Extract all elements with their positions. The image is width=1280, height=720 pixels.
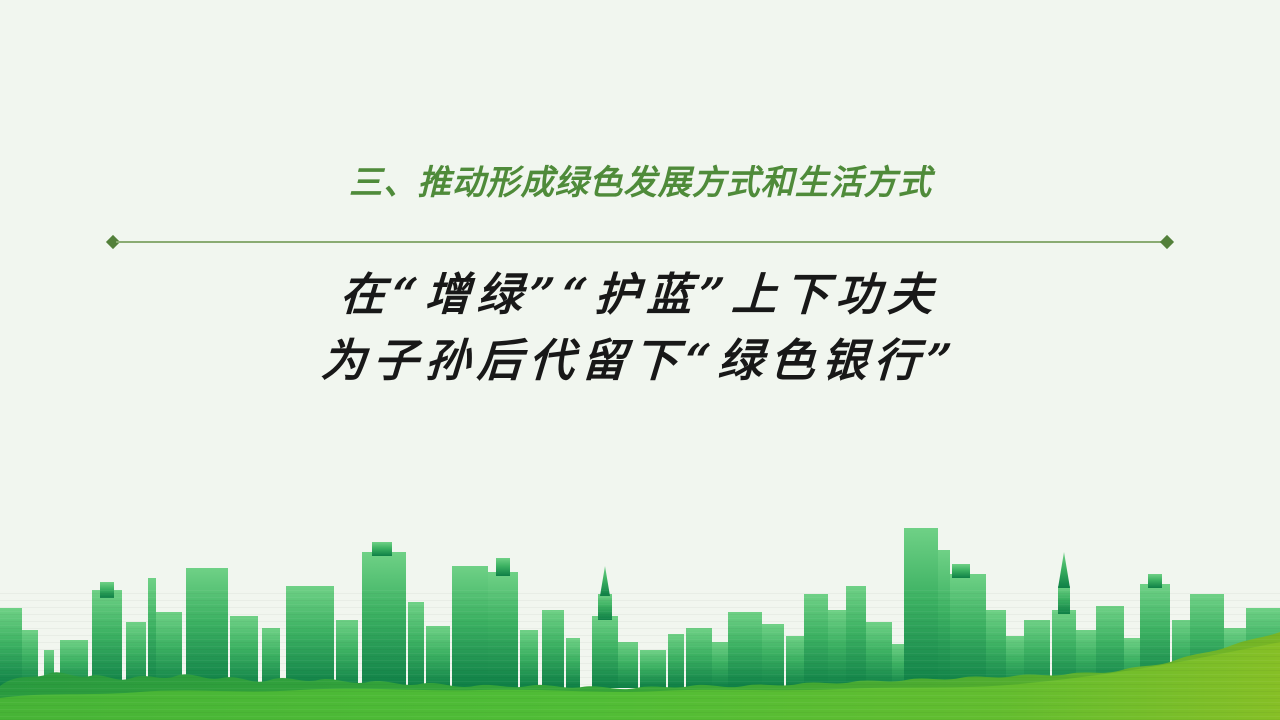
scenery-illustration	[0, 490, 1280, 720]
scenery-svg	[0, 490, 1280, 720]
divider-line	[116, 241, 1164, 243]
divider-diamond-right-icon	[1160, 235, 1174, 249]
divider	[108, 234, 1172, 250]
page-title: 三、推动形成绿色发展方式和生活方式	[348, 160, 931, 206]
body-line-2: 为子孙后代留下“绿色银行”	[0, 328, 1280, 394]
slide-root: 三、推动形成绿色发展方式和生活方式 在“增绿”“护蓝”上下功夫 为子孙后代留下“…	[0, 0, 1280, 720]
city-skyline-silhouette	[0, 528, 1280, 688]
body-text: 在“增绿”“护蓝”上下功夫 为子孙后代留下“绿色银行”	[0, 262, 1280, 394]
body-line-1: 在“增绿”“护蓝”上下功夫	[0, 262, 1280, 328]
title-block: 三、推动形成绿色发展方式和生活方式	[0, 160, 1280, 206]
